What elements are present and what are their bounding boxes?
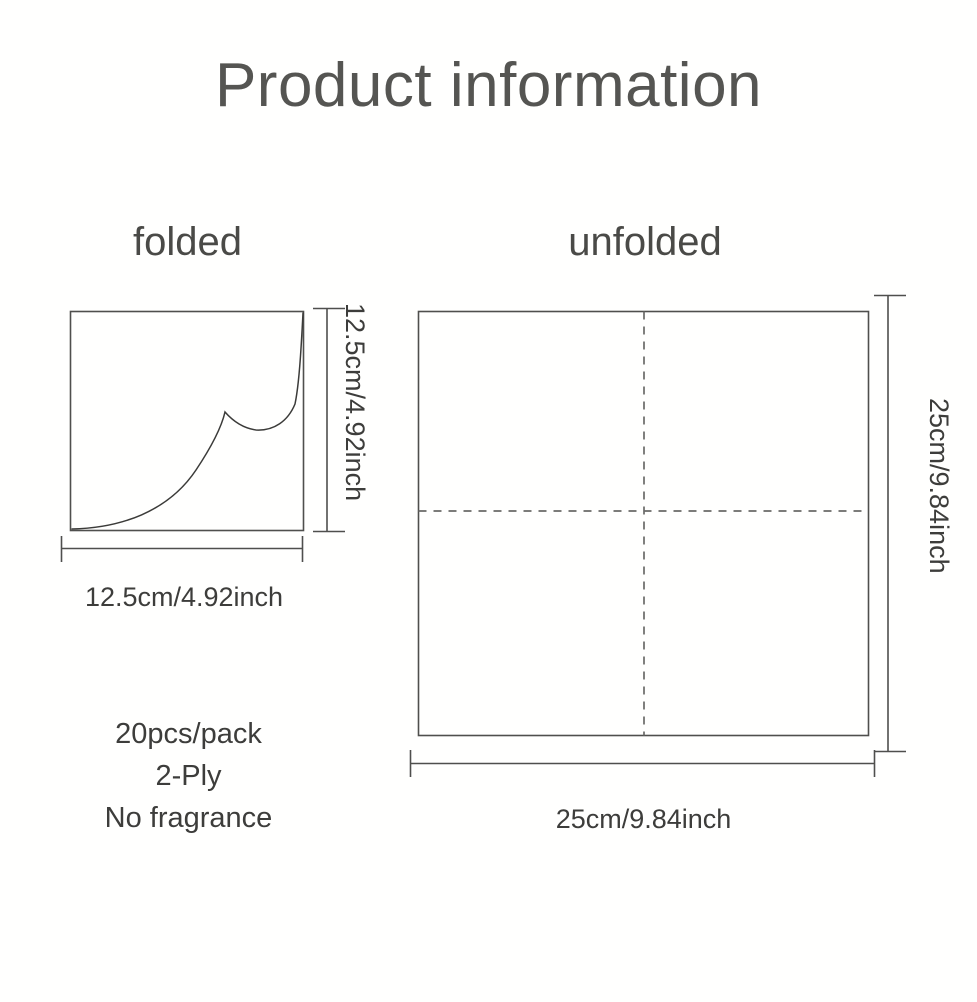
- unfolded-width-dimension: [410, 750, 875, 777]
- spec-item-pack: 20pcs/pack: [0, 713, 377, 755]
- product-specs-list: 20pcs/pack 2-Ply No fragrance: [0, 713, 377, 839]
- spec-item-fragrance: No fragrance: [0, 797, 377, 839]
- spec-item-ply: 2-Ply: [0, 755, 377, 797]
- diagram-line-art: [0, 0, 977, 1002]
- folded-width-label: 12.5cm/4.92inch: [0, 584, 368, 611]
- unfolded-height-label: 25cm/9.84inch: [925, 398, 952, 574]
- folded-napkin-group: [71, 312, 304, 531]
- unfolded-width-label: 25cm/9.84inch: [400, 806, 887, 833]
- product-information-diagram: Product information folded unfolded: [0, 0, 977, 1002]
- folded-napkin-outline: [71, 312, 304, 531]
- unfolded-height-dimension: [874, 295, 906, 752]
- folded-width-dimension: [61, 536, 303, 562]
- folded-napkin-fold-curve: [72, 313, 303, 529]
- folded-height-label: 12.5cm/4.92inch: [341, 303, 368, 501]
- unfolded-napkin-group: [419, 312, 869, 736]
